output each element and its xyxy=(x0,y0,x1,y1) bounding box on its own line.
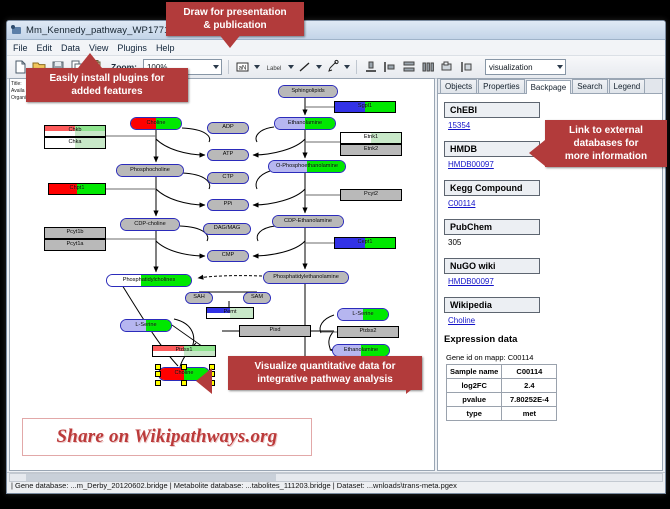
svg-text:aN: aN xyxy=(239,66,247,72)
menu-item-file[interactable]: File xyxy=(13,43,28,53)
db-header-nugo-wiki: NuGO wiki xyxy=(444,258,540,274)
toolbar-separator-2 xyxy=(356,60,357,74)
expression-value: 2.4 xyxy=(502,379,557,393)
callout-draw-line2: & publication xyxy=(203,20,266,31)
expression-key: type xyxy=(447,407,502,421)
visualization-combobox[interactable]: visualization xyxy=(485,59,566,75)
node-label: Etnk2 xyxy=(364,147,378,153)
node-label: Choline xyxy=(147,121,166,127)
datanode-dropdown-arrow-icon[interactable] xyxy=(254,65,260,69)
db-header-wikipedia: Wikipedia xyxy=(444,297,540,313)
node-label: DAG/MAG xyxy=(214,226,240,232)
tab-backpage[interactable]: Backpage xyxy=(526,80,572,94)
order-icon[interactable] xyxy=(458,59,474,75)
gene-node-pisd[interactable]: Pisd xyxy=(239,325,311,337)
gene-node-pcyt1b[interactable]: Pcyt1b xyxy=(44,227,106,239)
chevron-down-icon-2 xyxy=(557,65,563,69)
callout-visualize-line1: Visualize quantitative data for xyxy=(255,361,396,372)
tab-search[interactable]: Search xyxy=(572,79,607,93)
table-row: typemet xyxy=(447,407,557,421)
node-label: SAH xyxy=(193,295,205,301)
menu-item-plugins[interactable]: Plugins xyxy=(117,43,147,53)
expression-key: Sample name xyxy=(447,365,502,379)
label-icon[interactable]: Label xyxy=(263,59,285,75)
resize-handle[interactable] xyxy=(155,364,161,370)
side-panel-tabs: ObjectsPropertiesBackpageSearchLegend xyxy=(438,79,662,94)
metabolite-node-choline[interactable]: Choline xyxy=(130,117,182,130)
gene-node-pcyt2[interactable]: Pcyt2 xyxy=(340,189,402,201)
gene-node-etnk1[interactable]: Etnk1 xyxy=(340,132,402,144)
node-label: Etnk1 xyxy=(364,135,378,141)
node-label: PPi xyxy=(224,202,233,208)
expression-table: Sample nameC00114log2FC2.4pvalue7.80252E… xyxy=(446,364,557,421)
resize-handle[interactable] xyxy=(181,380,187,386)
node-label: Ethanolamine xyxy=(344,348,378,354)
node-label: CMP xyxy=(222,253,234,259)
status-bar: | Gene database: ...m_Derby_20120602.bri… xyxy=(7,472,665,493)
node-label: Phosphatidylethanolamine xyxy=(273,275,339,281)
line-dropdown-arrow-icon[interactable] xyxy=(316,65,322,69)
metabolite-node-l-serine[interactable]: L-Serine xyxy=(337,308,389,321)
node-label: L-Serine xyxy=(352,312,373,318)
gene-id-line: Gene id on mapp: C00114 xyxy=(446,353,662,362)
callout-links: Link to external databases for more info… xyxy=(545,120,667,167)
expression-value: 7.80252E-4 xyxy=(502,393,557,407)
node-label: Phosphatidylcholines xyxy=(123,278,176,284)
callout-visualize-arrow-right-icon xyxy=(406,368,422,394)
node-label: Pemt xyxy=(223,310,236,316)
callout-plugins-line2: added features xyxy=(71,86,142,97)
node-label: Cept1 xyxy=(358,240,373,246)
db-header-chebi: ChEBI xyxy=(444,102,540,118)
line-icon[interactable] xyxy=(297,59,313,75)
visualization-value: visualization xyxy=(489,63,533,72)
menu-bar: File Edit Data View Plugins Help xyxy=(7,40,665,56)
metabolite-node-phosphatidylethanolamine[interactable]: Phosphatidylethanolamine xyxy=(263,271,349,284)
menu-item-view[interactable]: View xyxy=(89,43,108,53)
gene-node-cept1[interactable]: Cept1 xyxy=(334,237,396,249)
metabolite-node-phosphatidylcholines[interactable]: Phosphatidylcholines xyxy=(106,274,192,287)
node-label: Ptdss2 xyxy=(359,329,376,335)
node-label: Pcyt1b xyxy=(66,230,83,236)
resize-handle[interactable] xyxy=(155,380,161,386)
callout-draw: Draw for presentation & publication xyxy=(166,2,304,36)
label-dropdown-arrow-icon[interactable] xyxy=(288,65,294,69)
node-label: Pisd xyxy=(270,328,281,334)
gene-node-chka[interactable]: Chka xyxy=(44,137,106,149)
node-label: CDP-Ethanolamine xyxy=(284,219,332,225)
metabolite-node-ppi[interactable]: PPi xyxy=(207,199,249,211)
metabolite-node-o-phosphoethanolamine[interactable]: O-Phosphoethanolamine xyxy=(268,160,346,173)
anchor-dropdown-arrow-icon[interactable] xyxy=(344,65,350,69)
metabolite-node-atp[interactable]: ATP xyxy=(207,149,249,161)
node-label: Chka xyxy=(68,140,81,146)
tab-legend[interactable]: Legend xyxy=(609,79,646,93)
callout-draw-arrow-icon xyxy=(218,33,242,48)
svg-text:Label: Label xyxy=(267,66,282,72)
expression-value: C00114 xyxy=(502,365,557,379)
metabolite-node-sah[interactable]: SAH xyxy=(185,292,213,304)
node-label: Chpt1 xyxy=(70,186,85,192)
status-text: | Gene database: ...m_Derby_20120602.bri… xyxy=(11,481,457,490)
callout-links-line2: databases for xyxy=(573,138,638,149)
node-label: Pcyt2 xyxy=(364,192,378,198)
db-header-hmdb: HMDB xyxy=(444,141,540,157)
gene-node-etnk2[interactable]: Etnk2 xyxy=(340,144,402,156)
node-label: Sgpl1 xyxy=(358,104,372,110)
gene-node-sgpl1[interactable]: Sgpl1 xyxy=(334,101,396,113)
node-label: ADP xyxy=(222,125,234,131)
expression-key: pvalue xyxy=(447,393,502,407)
metabolite-node-phosphocholine[interactable]: Phosphocholine xyxy=(116,164,184,177)
node-label: Pcyt1a xyxy=(66,242,83,248)
metabolite-node-cmp[interactable]: CMP xyxy=(207,250,249,262)
node-label: Chkb xyxy=(68,128,81,134)
metabolite-node-cdp-choline[interactable]: CDP-choline xyxy=(120,218,180,231)
align-left-icon[interactable] xyxy=(382,59,398,75)
metabolite-node-sam[interactable]: SAM xyxy=(243,292,271,304)
node-label: O-Phosphoethanolamine xyxy=(276,164,338,170)
expression-key: log2FC xyxy=(447,379,502,393)
expression-value: met xyxy=(502,407,557,421)
app-icon xyxy=(11,25,22,36)
table-row: log2FC2.4 xyxy=(447,379,557,393)
node-label: Phosphocholine xyxy=(130,168,170,174)
toolbar-separator xyxy=(228,60,229,74)
menu-item-data[interactable]: Data xyxy=(61,43,80,53)
db-value-wikipedia[interactable]: Choline xyxy=(448,316,662,325)
callout-plugins-line1: Easily install plugins for xyxy=(49,73,164,84)
chevron-down-icon xyxy=(213,65,219,69)
gene-node-chkb[interactable]: Chkb xyxy=(44,125,106,137)
db-value-nugo-wiki[interactable]: HMDB00097 xyxy=(448,277,662,286)
node-label: ATP xyxy=(223,152,233,158)
resize-handle[interactable] xyxy=(155,371,161,377)
callout-draw-line1: Draw for presentation xyxy=(183,7,286,18)
table-row: Sample nameC00114 xyxy=(447,365,557,379)
db-value-pubchem: 305 xyxy=(448,238,662,247)
distribute-icon[interactable] xyxy=(420,59,436,75)
callout-visualize-arrow-left-icon xyxy=(196,368,212,394)
gene-node-pemt[interactable]: Pemt xyxy=(206,307,254,319)
table-row: pvalue7.80252E-4 xyxy=(447,393,557,407)
metabolite-node-ethanolamine[interactable]: Ethanolamine xyxy=(274,117,336,130)
node-label: Choline xyxy=(175,371,194,377)
node-label: Sphingolipids xyxy=(291,89,324,95)
gene-node-ptdss2[interactable]: Ptdss2 xyxy=(337,326,399,338)
tab-properties[interactable]: Properties xyxy=(478,79,524,93)
metabolite-node-l-serine[interactable]: L-Serine xyxy=(120,319,172,332)
datanode-icon[interactable]: aN xyxy=(235,59,251,75)
callout-links-arrow-icon xyxy=(529,140,545,166)
db-header-kegg-compound: Kegg Compound xyxy=(444,180,540,196)
expression-data-heading: Expression data xyxy=(444,334,662,345)
screenshot-root: Mm_Kennedy_pathway_WP1771_45176.gpml Fil… xyxy=(0,0,670,509)
title-bar: Mm_Kennedy_pathway_WP1771_45176.gpml xyxy=(7,21,665,40)
node-label: CDP-choline xyxy=(134,222,165,228)
db-header-pubchem: PubChem xyxy=(444,219,540,235)
callout-visualize: Visualize quantitative data for integrat… xyxy=(228,356,422,390)
callout-links-line3: more information xyxy=(565,151,647,162)
metabolite-node-adp[interactable]: ADP xyxy=(207,122,249,134)
menu-item-edit[interactable]: Edit xyxy=(37,43,53,53)
node-label: SAM xyxy=(251,295,263,301)
callout-plugins: Easily install plugins for added feature… xyxy=(26,68,188,102)
menu-item-help[interactable]: Help xyxy=(156,43,175,53)
anchor-icon[interactable] xyxy=(325,59,341,75)
align-bottom-icon[interactable] xyxy=(363,59,379,75)
metabolite-node-sphingolipids[interactable]: Sphingolipids xyxy=(278,85,338,98)
node-label: Ethanolamine xyxy=(288,121,322,127)
metabolite-node-ctp[interactable]: CTP xyxy=(207,172,249,184)
share-banner: Share on Wikipathways.org xyxy=(22,418,312,456)
gene-node-chpt1[interactable]: Chpt1 xyxy=(48,183,106,195)
gene-node-pcyt1a[interactable]: Pcyt1a xyxy=(44,239,106,251)
metabolite-node-cdp-ethanolamine[interactable]: CDP-Ethanolamine xyxy=(272,215,344,228)
metabolite-node-dag-mag[interactable]: DAG/MAG xyxy=(203,223,251,235)
node-label: Ptdss1 xyxy=(175,348,192,354)
node-label: L-Serine xyxy=(135,323,156,329)
group-icon[interactable] xyxy=(439,59,455,75)
tab-objects[interactable]: Objects xyxy=(440,79,477,93)
share-banner-text: Share on Wikipathways.org xyxy=(57,426,278,448)
callout-links-line1: Link to external xyxy=(569,125,643,136)
node-label: CTP xyxy=(222,175,233,181)
pathway-canvas[interactable]: Title: Availa Organi xyxy=(9,78,435,471)
callout-plugins-arrow-icon xyxy=(78,53,102,68)
db-value-kegg-compound[interactable]: C00114 xyxy=(448,199,662,208)
gene-node-ptdss1[interactable]: Ptdss1 xyxy=(152,345,216,357)
callout-visualize-line2: integrative pathway analysis xyxy=(257,374,393,385)
stack-vertical-icon[interactable] xyxy=(401,59,417,75)
